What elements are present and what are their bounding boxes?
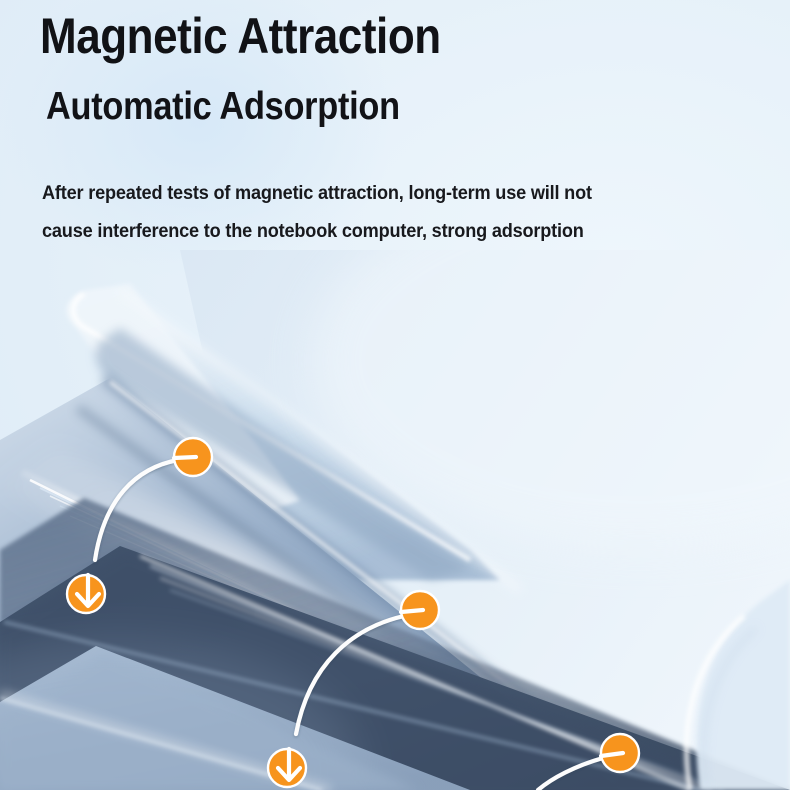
description: After repeated tests of magnetic attract… [42, 174, 710, 250]
promo-banner: Magnetic Attraction Automatic Adsorption… [0, 0, 790, 790]
magnet-point-4-hit[interactable] [266, 747, 308, 789]
headline-block: Magnetic Attraction Automatic Adsorption… [40, 8, 760, 250]
page-title: Magnetic Attraction [40, 8, 674, 64]
magnet-point-5-hit[interactable] [599, 732, 641, 774]
magnet-point-3-hit[interactable] [399, 589, 441, 631]
product-photo [0, 250, 790, 790]
magnet-point-1-hit[interactable] [172, 436, 214, 478]
description-line-1: After repeated tests of magnetic attract… [42, 174, 710, 212]
description-line-2: cause interference to the notebook compu… [42, 212, 710, 250]
magnet-point-2-hit[interactable] [65, 573, 107, 615]
page-subtitle: Automatic Adsorption [46, 85, 674, 129]
